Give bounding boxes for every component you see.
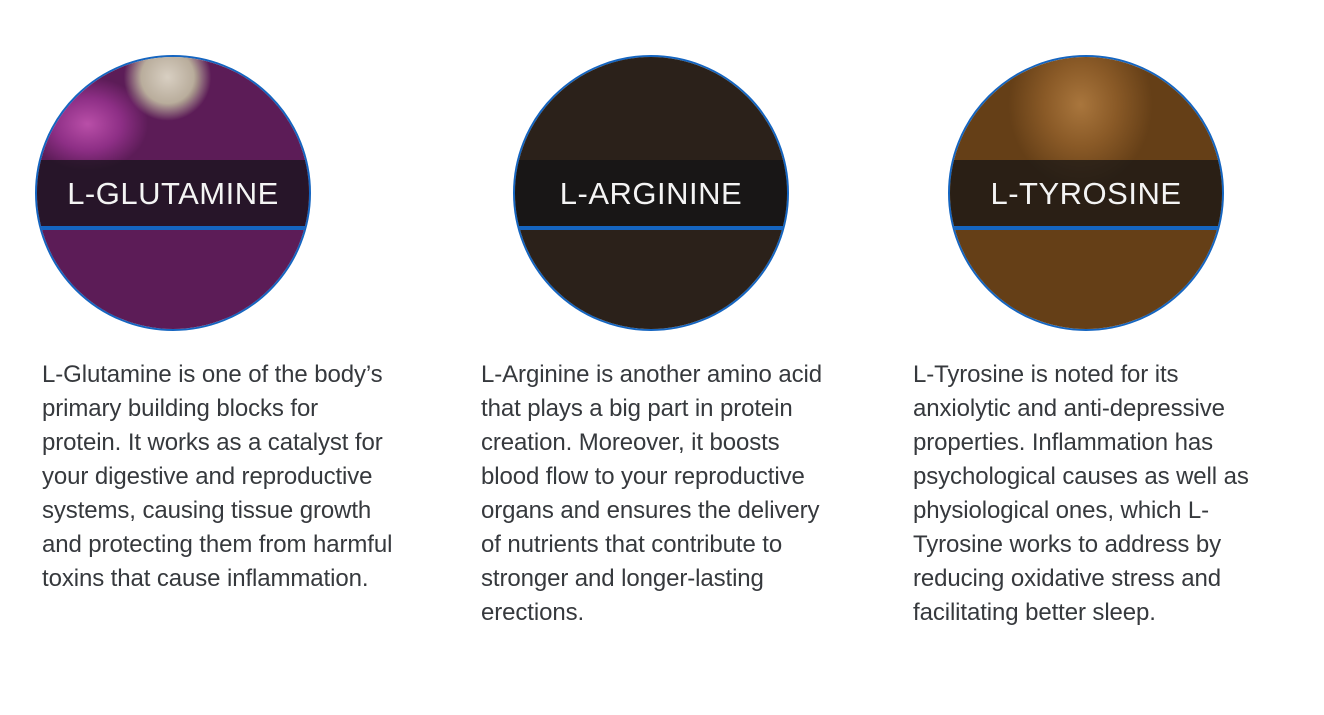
ingredient-label: L-GLUTAMINE [67, 178, 279, 209]
ingredients-grid: L-GLUTAMINE L-Glutamine is one of the bo… [0, 0, 1324, 715]
label-band-l-glutamine: L-GLUTAMINE [37, 160, 309, 226]
circle-image-frame: L-TYROSINE [948, 55, 1224, 331]
ingredient-card-l-tyrosine: L-TYROSINE L-Tyrosine is noted for its a… [882, 0, 1323, 715]
ingredient-description-l-tyrosine: L-Tyrosine is noted for its anxiolytic a… [913, 358, 1263, 630]
label-band-l-arginine: L-ARGININE [515, 160, 787, 226]
band-underline [37, 226, 309, 230]
circle-image-l-tyrosine: L-TYROSINE [948, 55, 1224, 331]
ingredient-description-l-glutamine: L-Glutamine is one of the body’s primary… [42, 358, 402, 596]
circle-image-frame: L-GLUTAMINE [35, 55, 311, 331]
band-underline [950, 226, 1222, 230]
circle-image-l-glutamine: L-GLUTAMINE [35, 55, 311, 331]
circle-image-frame: L-ARGININE [513, 55, 789, 331]
ingredient-label: L-TYROSINE [990, 178, 1181, 209]
band-underline [515, 226, 787, 230]
ingredient-card-l-glutamine: L-GLUTAMINE L-Glutamine is one of the bo… [0, 0, 441, 715]
label-band-l-tyrosine: L-TYROSINE [950, 160, 1222, 226]
ingredient-description-l-arginine: L-Arginine is another amino acid that pl… [481, 358, 833, 630]
ingredient-label: L-ARGININE [560, 178, 742, 209]
circle-image-l-arginine: L-ARGININE [513, 55, 789, 331]
ingredient-card-l-arginine: L-ARGININE L-Arginine is another amino a… [441, 0, 882, 715]
